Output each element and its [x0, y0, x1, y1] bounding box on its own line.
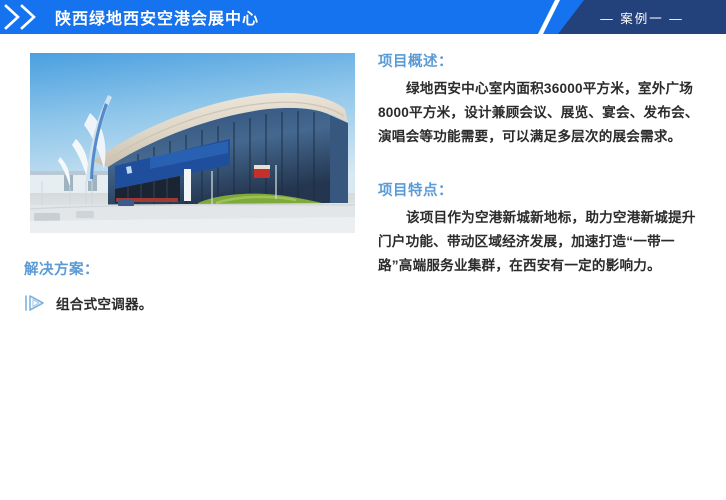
page-header: 陕西绿地西安空港会展中心 — 案例一 —	[0, 0, 726, 34]
header-diagonal-separator	[538, 0, 560, 34]
page-title: 陕西绿地西安空港会展中心	[55, 0, 259, 34]
section-body-features: 该项目作为空港新城新地标，助力空港新城提升门户功能、带动区域经济发展，加速打造“…	[378, 206, 708, 278]
solution-item-label: 组合式空调器。	[56, 293, 153, 313]
case-number-badge: — 案例一 —	[558, 0, 726, 34]
section-body-overview: 绿地西安中心室内面积36000平方米，室外广场8000平方米，设计兼顾会议、展览…	[378, 77, 708, 149]
section-spacer	[378, 149, 708, 179]
double-chevron-right-icon	[2, 0, 44, 34]
project-text-column: 项目概述： 绿地西安中心室内面积36000平方米，室外广场8000平方米，设计兼…	[378, 50, 708, 278]
play-triangle-icon	[24, 293, 46, 313]
solution-heading: 解决方案：	[24, 258, 344, 279]
list-item: 组合式空调器。	[24, 293, 344, 313]
convention-center-photo	[30, 53, 355, 233]
section-heading-features: 项目特点：	[378, 179, 708, 200]
solution-block: 解决方案： 组合式空调器。	[24, 258, 344, 313]
section-heading-overview: 项目概述：	[378, 50, 708, 71]
